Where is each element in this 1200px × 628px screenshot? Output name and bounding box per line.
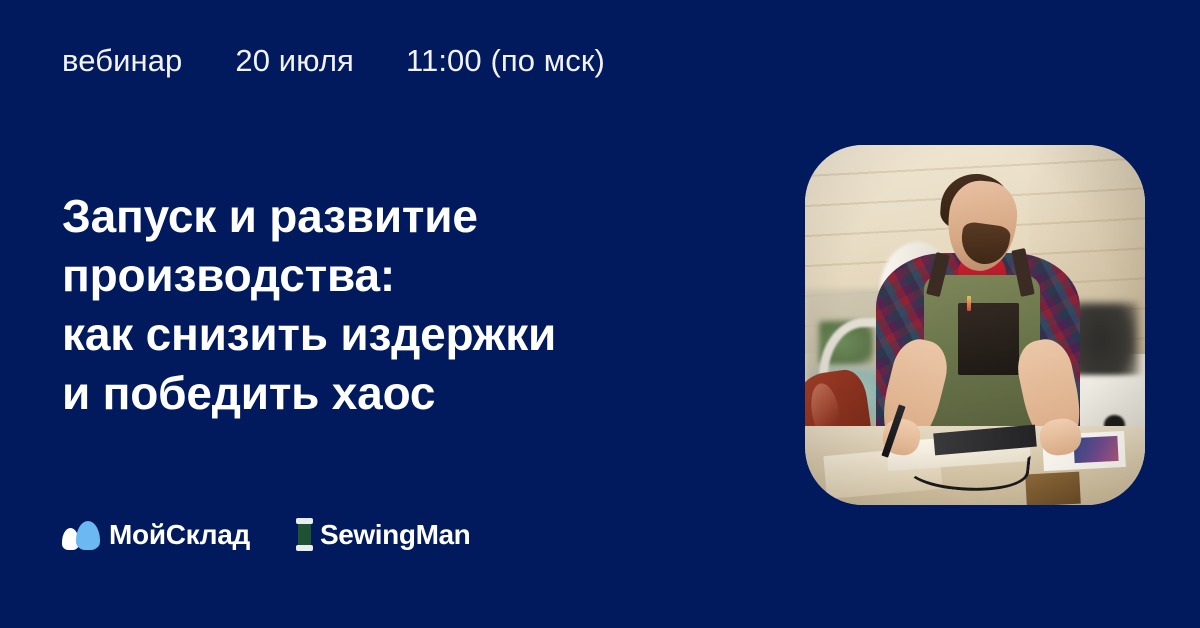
moysklad-droplets-icon <box>62 519 100 550</box>
webinar-meta-row: вебинар 20 июля 11:00 (по мск) <box>62 44 605 78</box>
partner-logo-row: МойСклад SewingMan <box>62 518 470 551</box>
page-title: Запуск и развитие производства: как сниз… <box>62 187 722 423</box>
headline-line-4: и победить хаос <box>62 364 722 423</box>
headline-line-2: производства: <box>62 246 722 305</box>
sewingman-logo: SewingMan <box>296 518 470 551</box>
droplet-blue-shape <box>76 521 100 550</box>
headline-line-1: Запуск и развитие <box>62 187 722 246</box>
webinar-label: вебинар <box>62 44 182 78</box>
webinar-banner: вебинар 20 июля 11:00 (по мск) Запуск и … <box>0 0 1200 628</box>
workshop-photo <box>805 145 1145 505</box>
moysklad-wordmark: МойСклад <box>109 521 250 549</box>
spool-body-shape <box>298 521 311 548</box>
photo-vignette <box>805 145 1145 505</box>
webinar-date: 20 июля <box>235 44 354 78</box>
headline-line-3: как снизить издержки <box>62 305 722 364</box>
photo-scene <box>805 145 1145 505</box>
thread-spool-icon <box>296 518 313 551</box>
spool-cap-bottom-shape <box>296 545 313 551</box>
moysklad-logo: МойСклад <box>62 519 250 550</box>
spool-cap-top-shape <box>296 518 313 524</box>
webinar-time: 11:00 (по мск) <box>406 44 605 78</box>
sewingman-wordmark: SewingMan <box>320 521 470 549</box>
